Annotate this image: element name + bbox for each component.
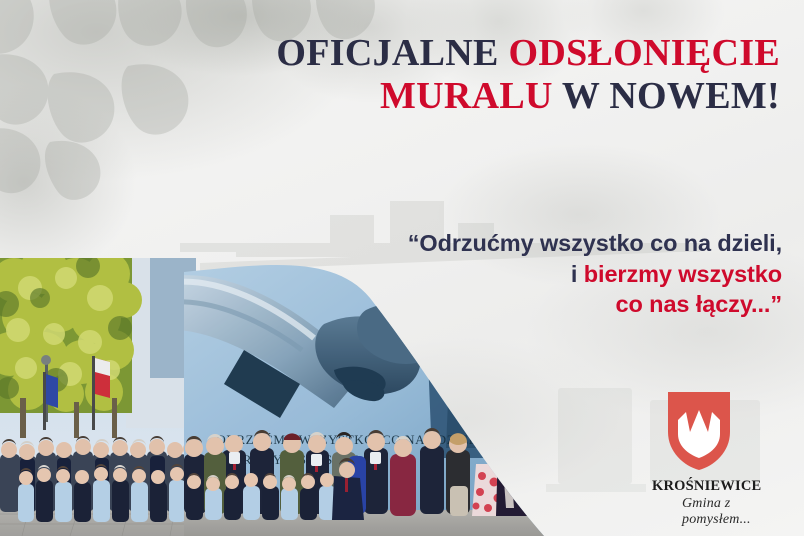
quote-line-2-navy: i <box>571 261 584 287</box>
poster-quote: “Odrzućmy wszystko co na dzieli, i bierz… <box>312 228 782 320</box>
headline-line-2-red: MURALU <box>380 75 562 117</box>
krosniewice-coat-of-arms-shield-icon <box>666 390 732 472</box>
headline-line-1-red: ODSŁONIĘCIE <box>509 32 781 74</box>
quote-line-2-red: bierzmy wszystko <box>584 261 782 287</box>
logo-tagline: Gmina z pomysłem... <box>682 496 796 528</box>
logo-municipality-name: KROŚNIEWICE <box>652 478 796 495</box>
quote-line-2: i bierzmy wszystko <box>312 259 782 290</box>
headline-line-1-navy: OFICJALNE <box>276 32 508 74</box>
headline-line-2: MURALU W NOWEM! <box>240 75 780 118</box>
headline-line-1: OFICJALNE ODSŁONIĘCIE <box>240 32 780 75</box>
poster-canvas: OFICJALNE ODSŁONIĘCIE MURALU W NOWEM! “O… <box>0 0 804 536</box>
poster-headline: OFICJALNE ODSŁONIĘCIE MURALU W NOWEM! <box>240 32 780 117</box>
crowd-and-autumn-trees-photo <box>0 258 196 536</box>
krosniewice-logo: KROŚNIEWICE Gmina z pomysłem... <box>648 390 796 528</box>
crowd-photo-graphic <box>0 258 196 536</box>
quote-line-1: “Odrzućmy wszystko co na dzieli, <box>312 228 782 259</box>
headline-line-2-navy: W NOWEM! <box>562 75 780 117</box>
